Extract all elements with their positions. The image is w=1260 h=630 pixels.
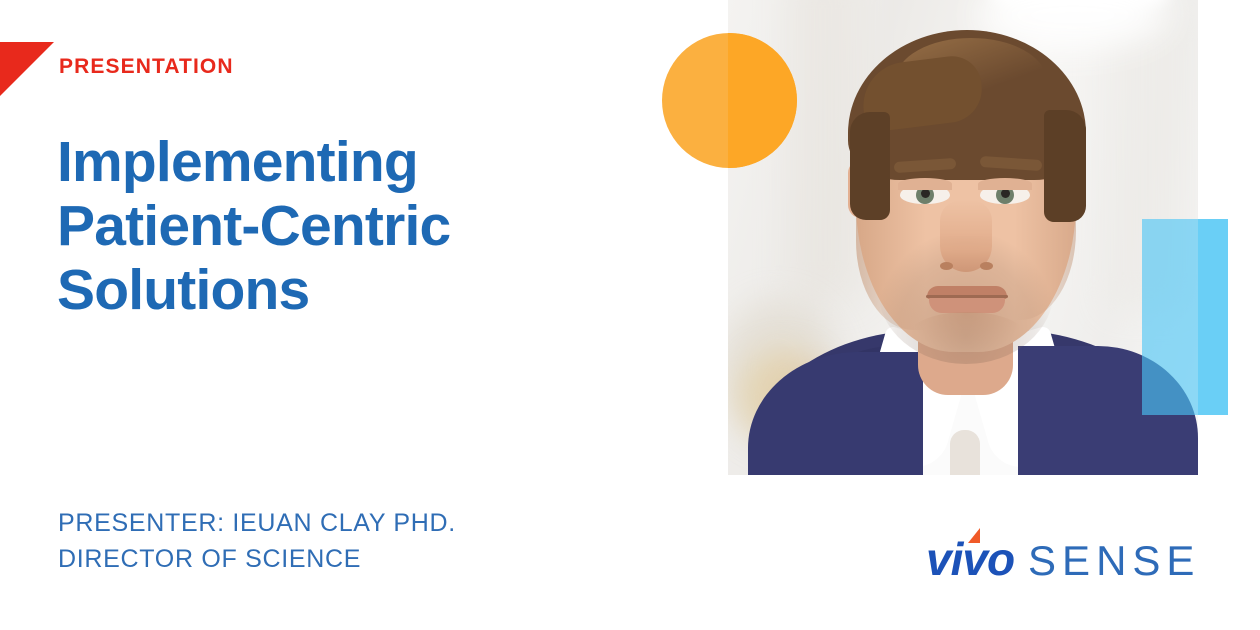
- title-line-3: Solutions: [57, 259, 677, 323]
- lower-lip: [929, 297, 1005, 313]
- pupil-right: [1001, 189, 1010, 198]
- title-line-1: Implementing: [57, 131, 677, 195]
- eyelid-right: [978, 178, 1032, 190]
- chin-shadow: [910, 312, 1024, 356]
- cyan-rectangle-shape-outside-photo: [1198, 219, 1228, 415]
- nostril-left: [940, 262, 953, 270]
- page-title: Implementing Patient-Centric Solutions: [57, 131, 677, 322]
- logo-accent-triangle-icon: [968, 528, 980, 543]
- vivosense-logo: vivo SENSE: [926, 536, 1200, 582]
- hair-side-right: [1044, 110, 1086, 222]
- presenter-block: PRESENTER: IEUAN CLAY PHD. DIRECTOR OF S…: [58, 506, 456, 577]
- title-line-2: Patient-Centric: [57, 195, 677, 259]
- presenter-photo: [728, 0, 1198, 475]
- presenter-role: DIRECTOR OF SCIENCE: [58, 542, 456, 578]
- pupil-left: [921, 189, 930, 198]
- presentation-slide: PRESENTATION Implementing Patient-Centri…: [0, 0, 1260, 630]
- red-corner-triangle-icon: [0, 42, 54, 96]
- shirt-opening: [950, 430, 980, 475]
- person-figure: [728, 0, 1198, 475]
- logo-wordmark-vivo: vivo: [926, 536, 1014, 582]
- mouth-line: [926, 295, 1008, 298]
- eyebrow-label: PRESENTATION: [59, 56, 234, 77]
- cardigan-left: [748, 352, 923, 475]
- presenter-name: PRESENTER: IEUAN CLAY PHD.: [58, 506, 456, 542]
- nostril-right: [980, 262, 993, 270]
- hair-side-left: [850, 112, 890, 220]
- logo-wordmark-sense: SENSE: [1028, 540, 1200, 582]
- eyelid-left: [898, 178, 952, 190]
